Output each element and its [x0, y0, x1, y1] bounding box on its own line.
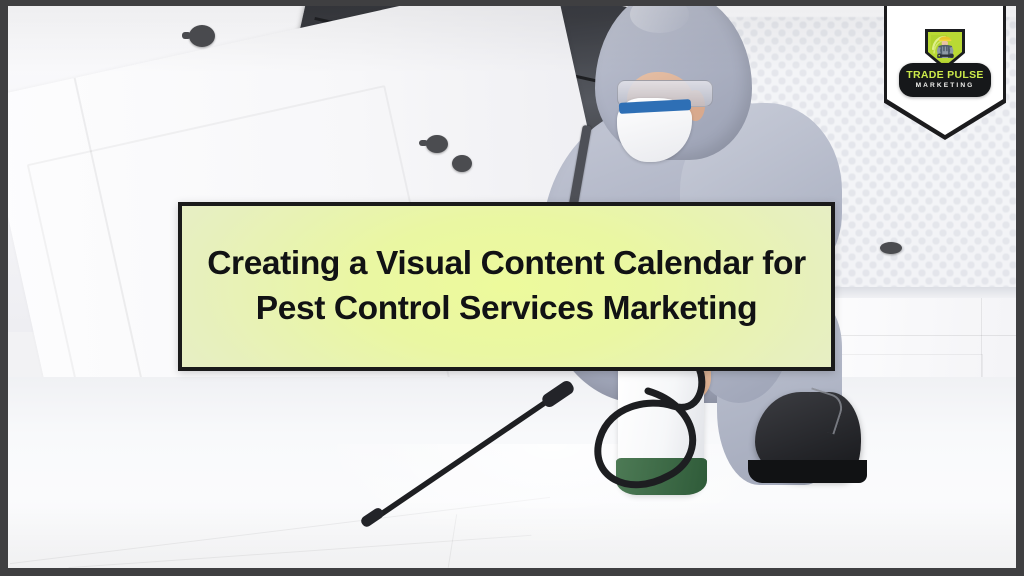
banner-canvas: Creating a Visual Content Calendar for P…	[8, 6, 1016, 568]
brand-name: TRADE PULSE	[906, 70, 983, 81]
title-line-2: Pest Control Services Marketing	[207, 287, 805, 331]
logo-wordmark: TRADE PULSE MARKETING	[899, 63, 991, 97]
spray-nozzle-icon	[359, 506, 385, 529]
wand-grip	[540, 379, 576, 410]
banner-frame: Creating a Visual Content Calendar for P…	[0, 0, 1024, 576]
brand-tagline: MARKETING	[916, 83, 975, 90]
page-title: Creating a Visual Content Calendar for P…	[191, 242, 821, 330]
title-line-1: Creating a Visual Content Calendar for	[207, 245, 805, 282]
spray-wand	[374, 400, 549, 519]
sprayer-hose	[598, 366, 702, 485]
title-card: Creating a Visual Content Calendar for P…	[178, 202, 835, 371]
